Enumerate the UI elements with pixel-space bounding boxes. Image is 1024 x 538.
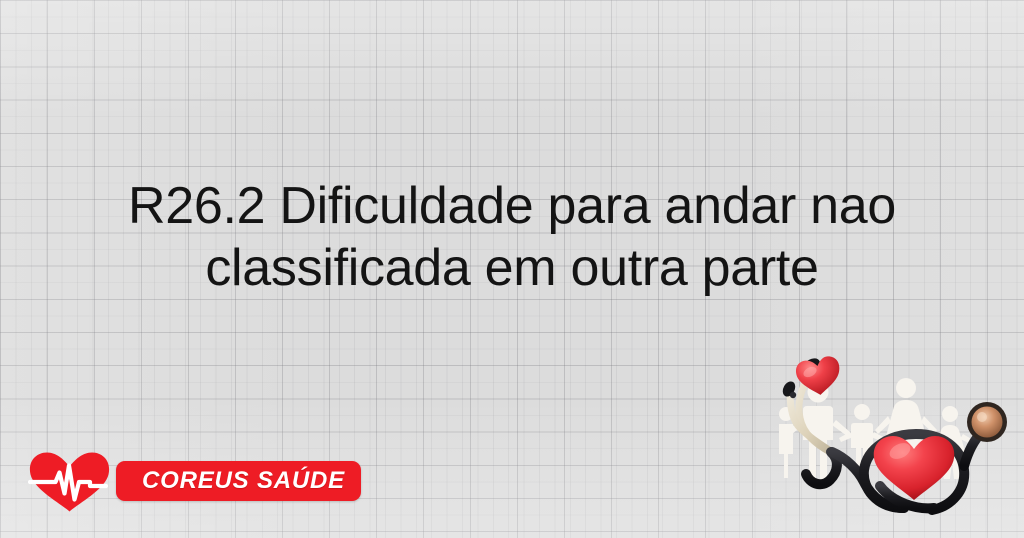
brand-name-label: COREUS SAÚDE [142,467,345,495]
stethoscope-chestpiece-icon [967,402,1007,442]
brand-name-pill: COREUS SAÚDE [116,461,361,501]
slide-canvas: R26.2 Dificuldade para andar nao classif… [0,0,1024,538]
stethoscope-heart-family-illustration [776,348,1024,538]
page-title: R26.2 Dificuldade para andar nao classif… [0,175,1024,299]
heart-pulse-icon [28,451,114,513]
brand-logo[interactable]: COREUS SAÚDE [28,449,353,513]
